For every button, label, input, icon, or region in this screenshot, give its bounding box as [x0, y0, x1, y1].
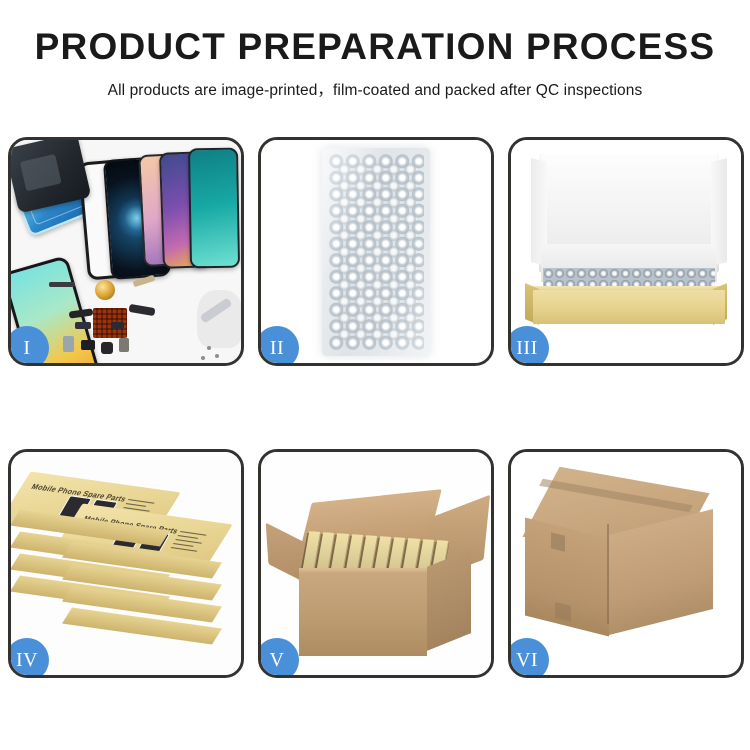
screw-1	[207, 346, 211, 350]
small-part-f	[111, 322, 124, 329]
carton-right-face	[427, 549, 471, 651]
small-part-e	[75, 322, 91, 329]
small-part-b	[81, 340, 95, 350]
small-part-c	[101, 342, 113, 354]
carton-vertical-edge	[607, 524, 609, 624]
step-card-5: V	[258, 449, 494, 678]
carton-front-face	[299, 572, 427, 656]
step-1-image	[11, 140, 241, 363]
step-badge-6: VI	[508, 638, 549, 678]
flex-cable-b	[129, 304, 156, 316]
step-badge-3: III	[508, 326, 549, 366]
process-step-grid: I II III	[8, 137, 744, 678]
step-3-image	[511, 140, 741, 363]
flex-cable-c	[49, 282, 75, 287]
phone-teal	[188, 148, 240, 269]
page-header: PRODUCT PREPARATION PROCESS All products…	[0, 0, 750, 100]
step-5-image	[261, 452, 491, 675]
small-part-a	[63, 336, 74, 352]
screw-3	[201, 356, 205, 360]
small-part-d	[119, 338, 129, 352]
step-card-4: Mobile Phone Spare Parts Mobile Phone Sp…	[8, 449, 244, 678]
speaker-coil-part	[95, 280, 115, 300]
step-card-2: II	[258, 137, 494, 366]
step-6-image	[511, 452, 741, 675]
step-card-1: I	[8, 137, 244, 366]
step-badge-5: V	[258, 638, 299, 678]
bubble-wrap-package	[322, 148, 430, 356]
page-subtitle: All products are image-printed，film-coat…	[0, 78, 750, 100]
step-badge-2: II	[258, 326, 299, 366]
page-title: PRODUCT PREPARATION PROCESS	[0, 28, 750, 67]
step-badge-1: I	[8, 326, 49, 366]
box-front-panel	[533, 290, 725, 324]
step-card-3: III	[508, 137, 744, 366]
step-4-image: Mobile Phone Spare Parts Mobile Phone Sp…	[11, 452, 241, 675]
box-stack: Mobile Phone Spare Parts Mobile Phone Sp…	[15, 468, 241, 668]
carton-tape-patch-top	[551, 532, 565, 551]
step-2-image	[261, 140, 491, 363]
step-card-6: VI	[508, 449, 744, 678]
step-badge-4: IV	[8, 638, 49, 678]
plastic-sheen	[322, 148, 430, 356]
screw-2	[215, 354, 219, 358]
